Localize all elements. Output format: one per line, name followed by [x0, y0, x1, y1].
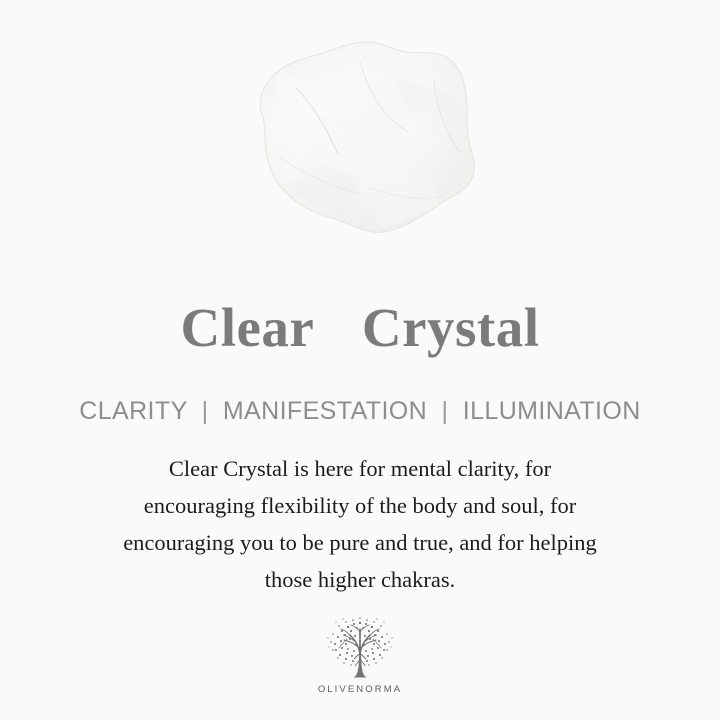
crystal-image [0, 18, 720, 276]
brand-name: OLIVENORMA [318, 684, 402, 695]
keyword-manifestation: MANIFESTATION [223, 397, 427, 425]
description-line: Clear Crystal is here for mental clarity… [36, 450, 684, 487]
keyword-illumination: ILLUMINATION [463, 397, 641, 425]
keyword-clarity: CLARITY [79, 397, 187, 425]
keyword-separator: | [434, 397, 455, 425]
description-line: those higher chakras. [36, 561, 684, 598]
tree-of-life-icon [323, 614, 397, 682]
brand-logo: OLIVENORMA [0, 614, 720, 695]
keyword-separator: | [195, 397, 216, 425]
description-line: encouraging you to be pure and true, and… [36, 524, 684, 561]
product-description: Clear Crystal is here for mental clarity… [36, 450, 684, 598]
description-line: encouraging flexibility of the body and … [36, 487, 684, 524]
crystal-illustration [210, 18, 510, 268]
product-keywords: CLARITY | MANIFESTATION | ILLUMINATION [0, 395, 720, 427]
product-title: Clear Crystal [0, 296, 720, 360]
product-card: Clear Crystal CLARITY | MANIFESTATION | … [0, 0, 720, 720]
